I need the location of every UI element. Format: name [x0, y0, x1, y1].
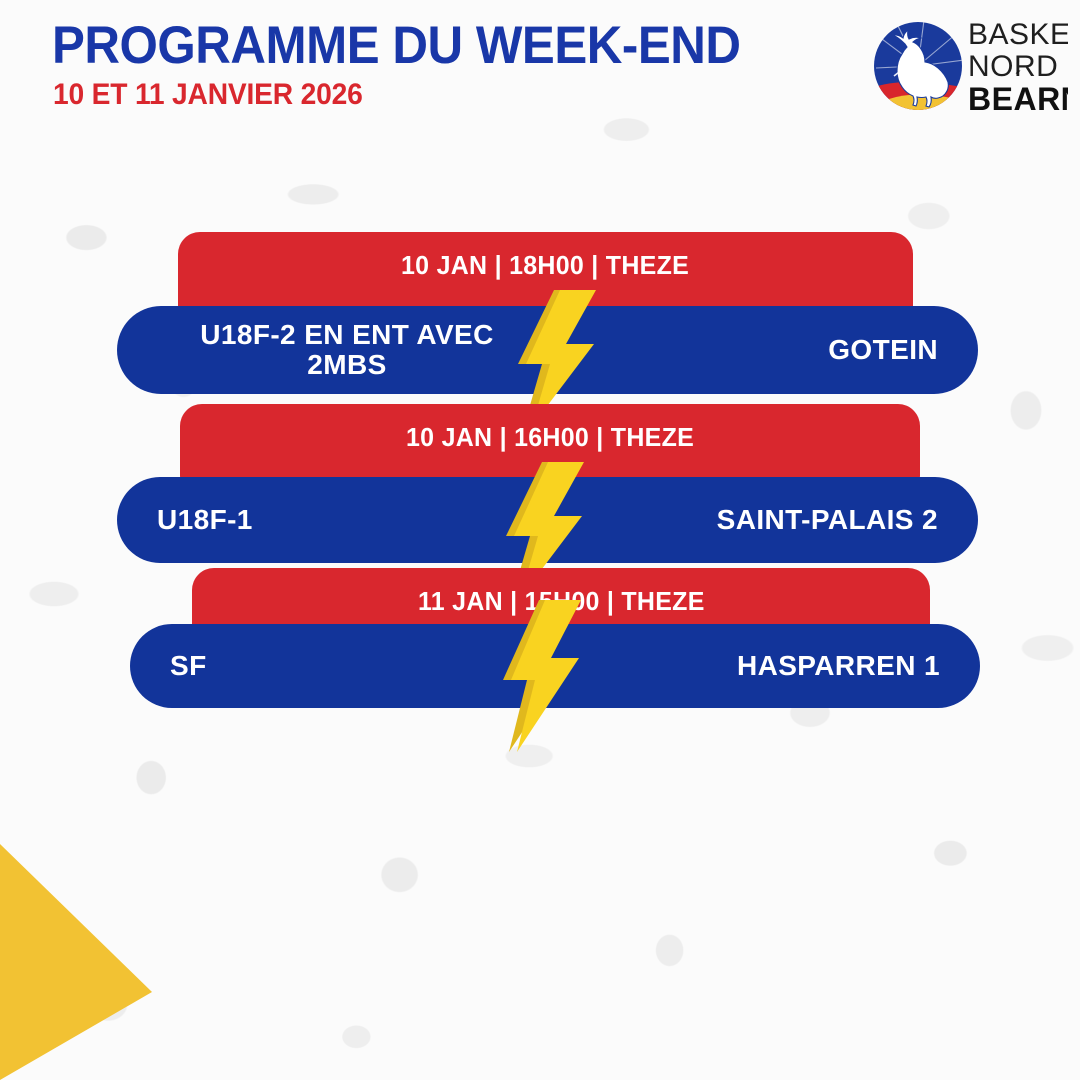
poster-canvas: PROGRAMME DU WEEK-END 10 ET 11 JANVIER 2… [0, 0, 1080, 1080]
match-teams-pill: SF HASPARREN 1 [130, 624, 980, 708]
match-datetime-venue: 10 JAN | 18H00 | THEZE [401, 250, 689, 281]
home-team-name: SF [130, 651, 207, 681]
home-team-name: U18F-2 EN ENT AVEC 2MBS [147, 320, 547, 379]
away-team-name: HASPARREN 1 [737, 651, 980, 681]
home-team-name: U18F-1 [117, 505, 253, 535]
match-teams-pill: U18F-2 EN ENT AVEC 2MBS GOTEIN [117, 306, 978, 394]
yellow-arrow-right-shape [0, 844, 152, 1080]
away-team-name: SAINT-PALAIS 2 [717, 505, 978, 535]
away-team-name: GOTEIN [828, 335, 978, 365]
match-datetime-venue: 10 JAN | 16H00 | THEZE [406, 422, 694, 453]
match-list: 10 JAN | 18H00 | THEZE U18F-2 EN ENT AVE… [0, 0, 1080, 1080]
match-datetime-venue: 11 JAN | 15H00 | THEZE [418, 586, 705, 617]
match-teams-pill: U18F-1 SAINT-PALAIS 2 [117, 477, 978, 563]
